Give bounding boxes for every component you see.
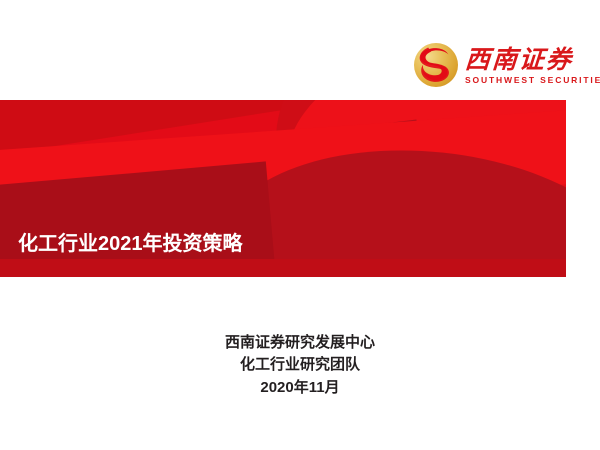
company-logo: 西南证券 SOUTHWEST SECURITIES <box>414 36 590 94</box>
report-date: 2020年11月 <box>0 377 600 399</box>
research-team-name: 化工行业研究团队 <box>0 354 600 376</box>
title-banner: 化工行业2021年投资策略 优选行业景气度向上的化工细分龙头 <box>0 100 566 277</box>
logo-company-name-cn: 西南证券 <box>464 46 600 73</box>
research-center-name: 西南证券研究发展中心 <box>0 332 600 354</box>
southwest-securities-emblem-icon <box>414 43 458 87</box>
banner-text-group: 化工行业2021年投资策略 优选行业景气度向上的化工细分龙头 <box>0 100 566 277</box>
logo-s-swoosh-icon <box>414 43 458 87</box>
logo-wordmark: 西南证券 SOUTHWEST SECURITIES <box>465 43 600 87</box>
logo-company-name-en: SOUTHWEST SECURITIES <box>465 75 600 85</box>
report-kicker: 化工行业2021年投资策略 <box>18 231 243 257</box>
footer-block: 西南证券研究发展中心 化工行业研究团队 2020年11月 <box>0 332 600 399</box>
